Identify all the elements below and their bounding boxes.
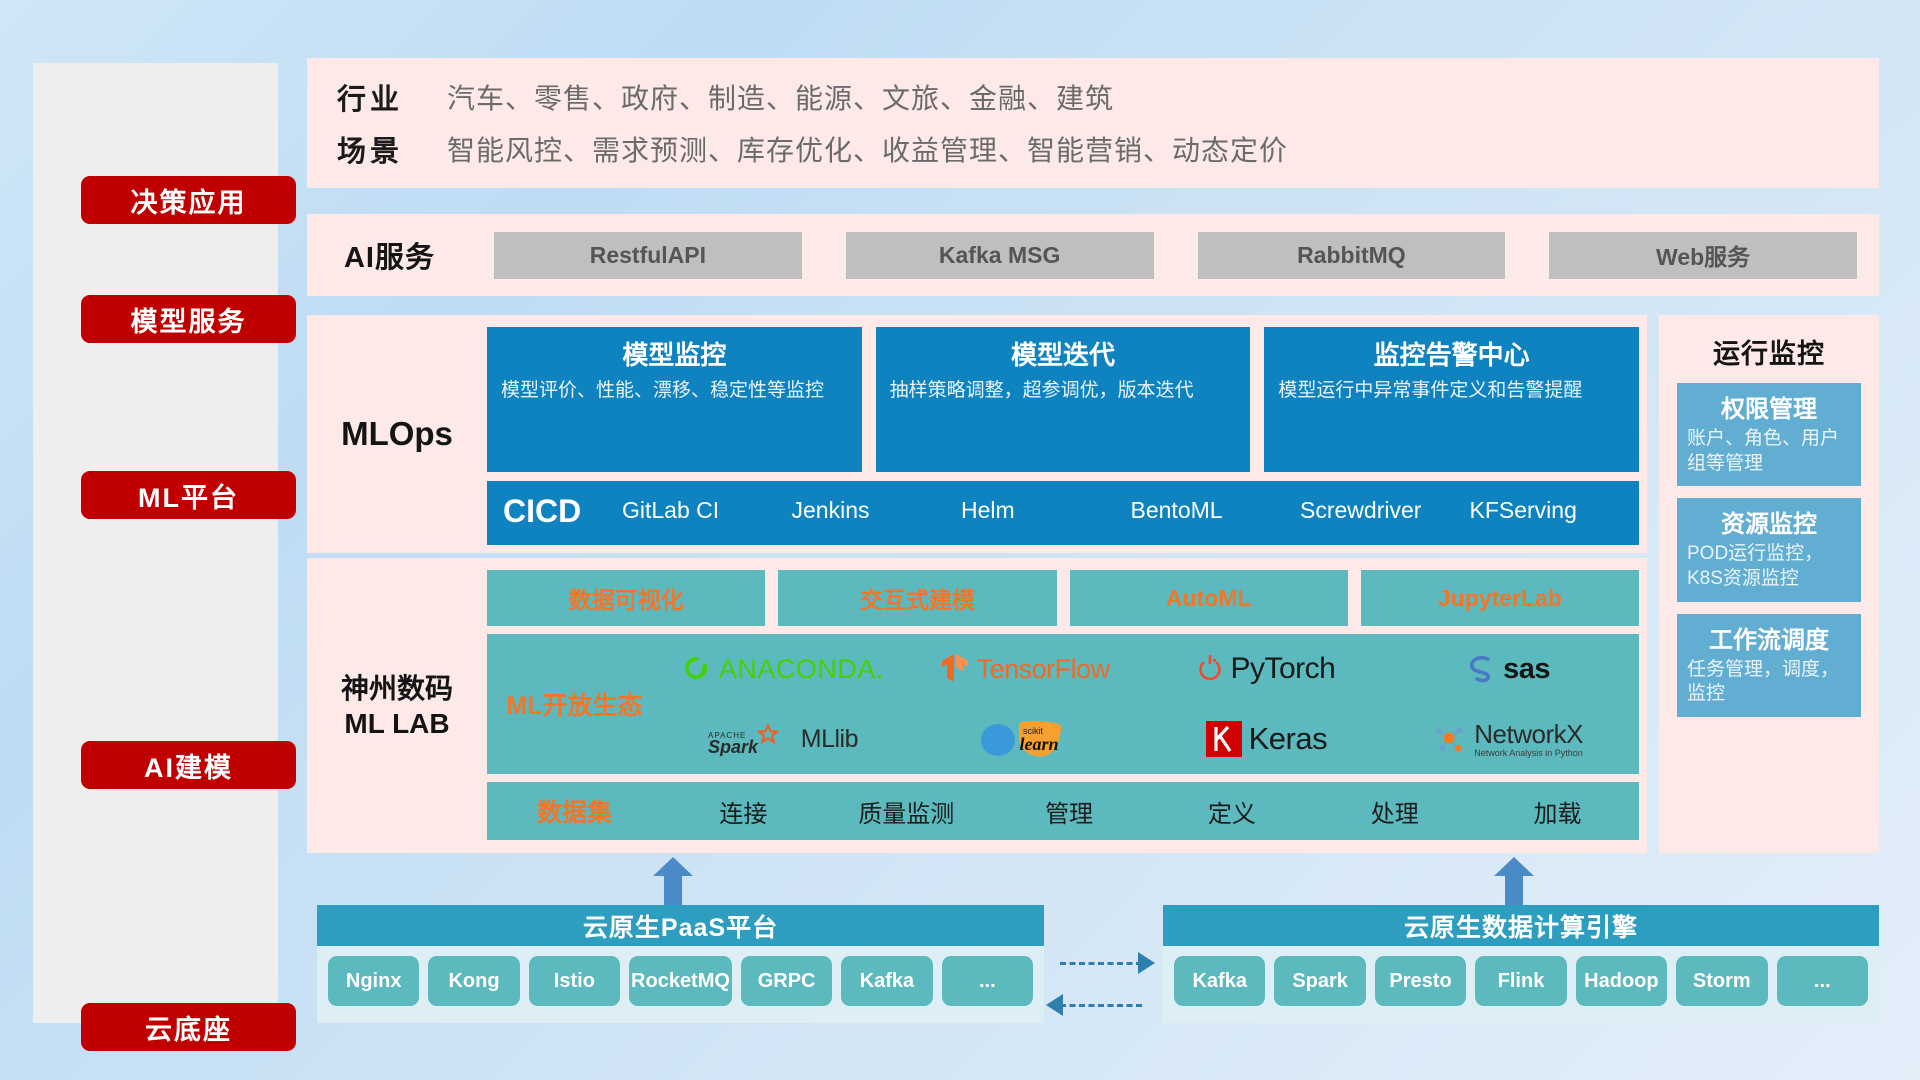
logo-keras: Keras xyxy=(1206,721,1327,757)
card-title: 工作流调度 xyxy=(1687,620,1851,655)
ml-lab-label-line1: 神州数码 xyxy=(341,671,453,706)
engine-chip-presto[interactable]: Presto xyxy=(1375,956,1466,1006)
logo-anaconda: ANACONDA. xyxy=(682,654,884,685)
rail-tag-decision-app[interactable]: 决策应用 xyxy=(81,176,296,224)
industry-value: 汽车、零售、政府、制造、能源、文旅、金融、建筑 xyxy=(447,77,1114,117)
logo-label: TensorFlow xyxy=(977,654,1110,685)
dataset-item-process[interactable]: 处理 xyxy=(1313,794,1476,829)
industry-scenario-panel: 行业 汽车、零售、政府、制造、能源、文旅、金融、建筑 场景 智能风控、需求预测、… xyxy=(307,58,1879,188)
ml-ecosystem-label: ML开放生态 xyxy=(487,686,662,722)
dataset-item-quality-monitoring[interactable]: 质量监测 xyxy=(825,794,988,829)
engine-chip-hadoop[interactable]: Hadoop xyxy=(1576,956,1667,1006)
monitor-card-resource[interactable]: 资源监控 POD运行监控，K8S资源监控 xyxy=(1677,498,1861,601)
logo-pytorch: PyTorch xyxy=(1197,652,1335,686)
mlops-panel: MLOps 模型监控 模型评价、性能、漂移、稳定性等监控 模型迭代 抽样策略调整… xyxy=(307,315,1647,553)
engine-chip-storm[interactable]: Storm xyxy=(1676,956,1767,1006)
up-arrow-data-engine-icon xyxy=(1494,857,1534,905)
layer-rail: 决策应用 模型服务 ML平台 AI建模 云底座 xyxy=(33,63,278,1023)
architecture-diagram: 决策应用 模型服务 ML平台 AI建模 云底座 行业 汽车、零售、政府、制造、能… xyxy=(0,0,1920,1080)
ml-ecosystem-bar: ML开放生态 ANACONDA. Tenso xyxy=(487,634,1639,774)
industry-label: 行业 xyxy=(337,76,447,118)
dataset-label: 数据集 xyxy=(487,793,662,829)
logo-sas: sas xyxy=(1466,653,1550,686)
anaconda-icon xyxy=(682,654,712,684)
ml-lab-label-line2: ML LAB xyxy=(344,706,449,741)
paas-chip-istio[interactable]: Istio xyxy=(529,956,620,1006)
cicd-tool-kfserving[interactable]: KFServing xyxy=(1470,481,1640,523)
data-engine-chip-list: Kafka Spark Presto Flink Hadoop Storm ..… xyxy=(1163,946,1879,1006)
logo-networkx: NetworkX Network Analysis in Python xyxy=(1433,721,1583,758)
card-desc: 任务管理，调度，监控 xyxy=(1687,658,1851,707)
scikit-learn-icon: scikit learn xyxy=(977,719,1073,759)
pytorch-icon xyxy=(1197,654,1223,684)
card-title: 资源监控 xyxy=(1687,504,1851,539)
rail-tag-ai-modeling[interactable]: AI建模 xyxy=(81,741,296,789)
cicd-tool-screwdriver[interactable]: Screwdriver xyxy=(1300,481,1470,523)
logo-spark-mllib: APACHE Spark MLlib xyxy=(708,722,858,756)
up-arrow-paas-icon xyxy=(653,857,693,905)
paas-chip-rocketmq[interactable]: RocketMQ xyxy=(629,956,732,1006)
mlops-card-model-monitoring[interactable]: 模型监控 模型评价、性能、漂移、稳定性等监控 xyxy=(487,327,862,472)
service-kafka-msg[interactable]: Kafka MSG xyxy=(846,232,1154,279)
logo-tensorflow: TensorFlow xyxy=(940,653,1110,685)
tensorflow-icon xyxy=(940,653,970,685)
paas-chip-kong[interactable]: Kong xyxy=(428,956,519,1006)
dataset-item-connect[interactable]: 连接 xyxy=(662,794,825,829)
dataset-item-load[interactable]: 加载 xyxy=(1476,794,1639,829)
connector-right-arrow-icon xyxy=(1138,952,1155,974)
cicd-tool-jenkins[interactable]: Jenkins xyxy=(792,481,962,523)
service-restfulapi[interactable]: RestfulAPI xyxy=(494,232,802,279)
card-desc: 模型评价、性能、漂移、稳定性等监控 xyxy=(501,378,848,403)
lab-tool-jupyterlab[interactable]: JupyterLab xyxy=(1361,570,1639,626)
engine-chip-more[interactable]: ... xyxy=(1777,956,1868,1006)
dataset-item-define[interactable]: 定义 xyxy=(1150,794,1313,829)
card-title: 权限管理 xyxy=(1687,389,1851,424)
card-title: 模型监控 xyxy=(501,335,848,372)
networkx-subtitle: Network Analysis in Python xyxy=(1474,749,1583,758)
ai-service-panel: AI服务 RestfulAPI Kafka MSG RabbitMQ Web服务 xyxy=(307,214,1879,296)
logo-label: sas xyxy=(1503,653,1550,686)
card-desc: 账户、角色、用户组等管理 xyxy=(1687,427,1851,476)
connector-left-arrow-icon xyxy=(1046,994,1063,1016)
data-engine-title: 云原生数据计算引擎 xyxy=(1163,905,1879,946)
sas-icon xyxy=(1466,655,1496,683)
data-engine-panel: 云原生数据计算引擎 Kafka Spark Presto Flink Hadoo… xyxy=(1163,905,1879,1023)
engine-chip-spark[interactable]: Spark xyxy=(1274,956,1365,1006)
engine-chip-kafka[interactable]: Kafka xyxy=(1174,956,1265,1006)
ml-lab-label: 神州数码 ML LAB xyxy=(307,558,487,853)
monitoring-title: 运行监控 xyxy=(1659,315,1879,371)
mlops-card-list: 模型监控 模型评价、性能、漂移、稳定性等监控 模型迭代 抽样策略调整，超参调优，… xyxy=(487,327,1639,472)
ml-lab-panel: 神州数码 ML LAB 数据可视化 交互式建模 AutoML JupyterLa… xyxy=(307,558,1647,853)
card-desc: 模型运行中异常事件定义和告警提醒 xyxy=(1278,378,1625,403)
logo-label: NetworkX xyxy=(1474,721,1583,747)
paas-chip-nginx[interactable]: Nginx xyxy=(328,956,419,1006)
monitor-card-workflow[interactable]: 工作流调度 任务管理，调度，监控 xyxy=(1677,614,1861,717)
card-desc: 抽样策略调整，超参调优，版本迭代 xyxy=(890,378,1237,403)
cicd-tool-helm[interactable]: Helm xyxy=(961,481,1131,523)
svg-text:learn: learn xyxy=(1019,734,1058,754)
paas-chip-kafka[interactable]: Kafka xyxy=(841,956,932,1006)
networkx-icon xyxy=(1433,723,1467,755)
rail-tag-cloud-base[interactable]: 云底座 xyxy=(81,1003,296,1051)
rail-tag-ml-platform[interactable]: ML平台 xyxy=(81,471,296,519)
lab-tool-data-visualization[interactable]: 数据可视化 xyxy=(487,570,765,626)
lab-tool-interactive-modeling[interactable]: 交互式建模 xyxy=(778,570,1056,626)
paas-chip-grpc[interactable]: GRPC xyxy=(741,956,832,1006)
card-desc: POD运行监控，K8S资源监控 xyxy=(1687,542,1851,591)
mlops-card-alert-center[interactable]: 监控告警中心 模型运行中异常事件定义和告警提醒 xyxy=(1264,327,1639,472)
industry-row: 行业 汽车、零售、政府、制造、能源、文旅、金融、建筑 xyxy=(337,72,1879,122)
connector-right-dash xyxy=(1060,962,1142,965)
monitor-card-permission[interactable]: 权限管理 账户、角色、用户组等管理 xyxy=(1677,383,1861,486)
logo-label: ANACONDA. xyxy=(719,654,884,685)
dataset-bar: 数据集 连接 质量监测 管理 定义 处理 加载 xyxy=(487,782,1639,840)
keras-icon xyxy=(1206,721,1242,757)
logo-label: MLlib xyxy=(801,725,858,754)
engine-chip-flink[interactable]: Flink xyxy=(1475,956,1566,1006)
service-web[interactable]: Web服务 xyxy=(1549,232,1857,279)
paas-chip-list: Nginx Kong Istio RocketMQ GRPC Kafka ... xyxy=(317,946,1044,1006)
lab-tool-automl[interactable]: AutoML xyxy=(1070,570,1348,626)
cicd-label: CICD xyxy=(487,481,622,530)
mlops-card-model-iteration[interactable]: 模型迭代 抽样策略调整，超参调优，版本迭代 xyxy=(876,327,1251,472)
paas-platform-title: 云原生PaaS平台 xyxy=(317,905,1044,946)
logo-label: Keras xyxy=(1249,721,1327,757)
apache-spark-icon: APACHE Spark xyxy=(708,722,794,756)
ml-lab-tool-list: 数据可视化 交互式建模 AutoML JupyterLab xyxy=(487,570,1639,626)
svg-text:Spark: Spark xyxy=(708,737,759,756)
ai-service-label: AI服务 xyxy=(307,234,472,276)
paas-platform-panel: 云原生PaaS平台 Nginx Kong Istio RocketMQ GRPC… xyxy=(317,905,1044,1023)
card-title: 模型迭代 xyxy=(890,335,1237,372)
logo-label: PyTorch xyxy=(1230,652,1335,686)
service-rabbitmq[interactable]: RabbitMQ xyxy=(1198,232,1506,279)
connector-left-dash xyxy=(1060,1004,1142,1007)
card-title: 监控告警中心 xyxy=(1278,335,1625,372)
cicd-tool-bentoml[interactable]: BentoML xyxy=(1131,481,1301,523)
mlops-label: MLOps xyxy=(307,315,487,553)
dataset-item-manage[interactable]: 管理 xyxy=(988,794,1151,829)
rail-tag-model-service[interactable]: 模型服务 xyxy=(81,295,296,343)
cicd-bar: CICD GitLab CI Jenkins Helm BentoML Scre… xyxy=(487,481,1639,545)
scenario-value: 智能风控、需求预测、库存优化、收益管理、智能营销、动态定价 xyxy=(447,129,1288,169)
ml-ecosystem-logo-grid: ANACONDA. TensorFlow PyTorch xyxy=(662,634,1639,774)
cicd-tool-gitlab-ci[interactable]: GitLab CI xyxy=(622,481,792,523)
logo-scikit-learn: scikit learn xyxy=(977,719,1073,759)
runtime-monitoring-panel: 运行监控 权限管理 账户、角色、用户组等管理 资源监控 POD运行监控，K8S资… xyxy=(1659,315,1879,853)
scenario-label: 场景 xyxy=(337,128,447,170)
scenario-row: 场景 智能风控、需求预测、库存优化、收益管理、智能营销、动态定价 xyxy=(337,124,1879,174)
paas-chip-more[interactable]: ... xyxy=(942,956,1033,1006)
